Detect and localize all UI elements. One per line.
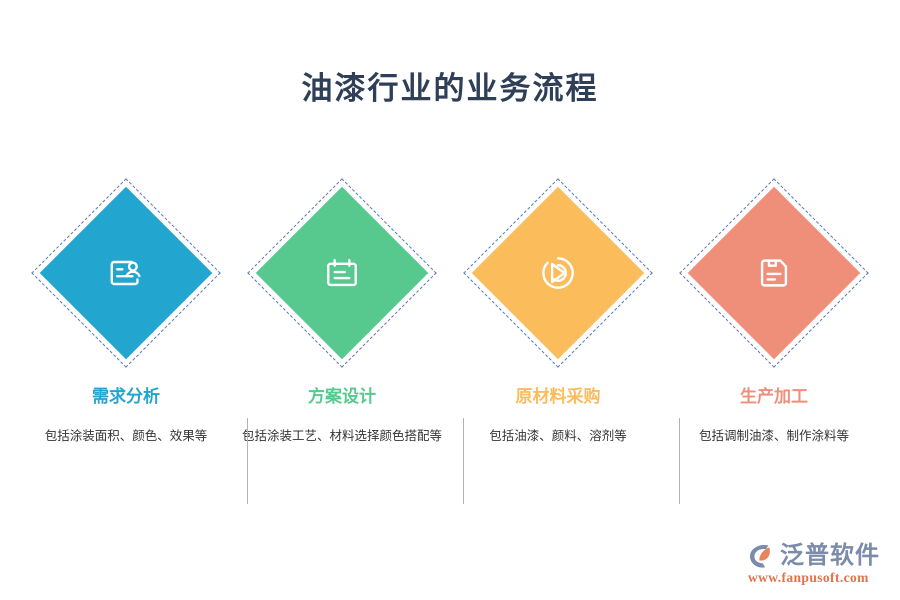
process-step-4[interactable]: 生产加工 包括调制油漆、制作涂料等 (666, 175, 882, 446)
logo-url: www.fanpusoft.com (748, 570, 869, 586)
process-step-1[interactable]: 需求分析 包括涂装面积、颜色、效果等 (18, 175, 234, 446)
step-description-2: 包括涂装工艺、材料选择颜色搭配等 (242, 427, 442, 446)
step-description-4: 包括调制油漆、制作涂料等 (674, 427, 874, 446)
diamond-1 (28, 175, 224, 371)
process-step-3[interactable]: 原材料采购 包括油漆、颜料、溶剂等 (450, 175, 666, 446)
column-separator-1 (247, 418, 248, 504)
diamond-2 (244, 175, 440, 371)
step-description-1: 包括涂装面积、颜色、效果等 (26, 427, 226, 446)
fanpu-logo-icon (746, 540, 778, 572)
step-description-3: 包括油漆、颜料、溶剂等 (458, 427, 658, 446)
document-save-icon (751, 250, 797, 296)
contact-card-icon (103, 250, 149, 296)
brand-logo[interactable]: 泛普软件 www.fanpusoft.com (746, 540, 882, 586)
page-title: 油漆行业的业务流程 (0, 68, 900, 110)
diamond-4 (676, 175, 872, 371)
process-steps: 需求分析 包括涂装面积、颜色、效果等 方案设计 包括涂装工 (18, 175, 882, 446)
step-title-1: 需求分析 (92, 385, 160, 409)
step-title-2: 方案设计 (308, 385, 376, 409)
diamond-3 (460, 175, 656, 371)
logo-row: 泛普软件 (746, 540, 880, 572)
notepad-icon (319, 250, 365, 296)
step-title-4: 生产加工 (740, 385, 808, 409)
logo-name: 泛普软件 (780, 542, 880, 570)
column-separator-3 (679, 418, 680, 504)
infographic-page: 油漆行业的业务流程 需求分析 包括涂装面积、颜色、效果等 (0, 0, 900, 600)
step-title-3: 原材料采购 (516, 385, 601, 409)
progress-circle-icon (535, 250, 581, 296)
column-separator-2 (463, 418, 464, 504)
process-step-2[interactable]: 方案设计 包括涂装工艺、材料选择颜色搭配等 (234, 175, 450, 446)
